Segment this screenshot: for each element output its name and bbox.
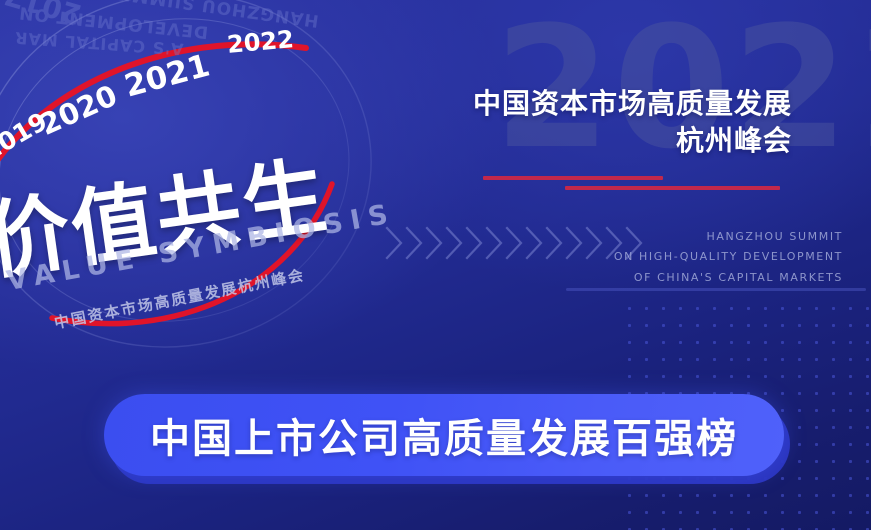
emblem-ghost-line-3: A'S CAPITAL MAR bbox=[14, 28, 185, 59]
emblem-ghost-text: 2017 HANGZHOU SUMMIT ON OUR DEVELOPMENT … bbox=[0, 0, 404, 370]
english-line-2: ON HIGH-QUALITY DEVELOPMENT bbox=[523, 247, 843, 267]
english-line-3: OF CHINA'S CAPITAL MARKETS bbox=[523, 268, 843, 288]
summit-emblem: 2017 HANGZHOU SUMMIT ON OUR DEVELOPMENT … bbox=[0, 0, 404, 370]
accent-rule bbox=[566, 288, 866, 291]
headline-line-2: 杭州峰会 bbox=[452, 123, 792, 160]
emblem-arc-lines bbox=[0, 0, 404, 370]
emblem-title-cn: 价值共生 bbox=[0, 129, 335, 297]
headline-line-1: 中国资本市场高质量发展 bbox=[473, 87, 792, 120]
emblem-year-2022: 2022 bbox=[226, 25, 295, 59]
page-title: 中国资本市场高质量发展 杭州峰会 bbox=[452, 86, 792, 160]
cta-button-wrap[interactable]: 中国上市公司高质量发展百强榜 bbox=[100, 392, 790, 492]
emblem-ghost-line-1: HANGZHOU SUMMIT ON OUR bbox=[22, 0, 320, 31]
cta-button-label: 中国上市公司高质量发展百强榜 bbox=[150, 406, 738, 464]
emblem-title-en: VALUE SYMBIOSIS bbox=[4, 198, 398, 297]
cta-button[interactable]: 中国上市公司高质量发展百强榜 bbox=[104, 394, 784, 476]
emblem-year-2019: 2019 bbox=[0, 107, 52, 167]
emblem-subtitle-cn: 中国资本市场高质量发展杭州峰会 bbox=[52, 264, 306, 333]
event-banner: 2021 2017 HANGZHOU SUMMIT ON OUR DEVELOP… bbox=[0, 0, 871, 530]
red-divider-bottom bbox=[565, 186, 780, 190]
emblem-ghost-year: 2017 bbox=[1, 0, 85, 31]
english-line-1: HANGZHOU SUMMIT bbox=[523, 227, 843, 247]
english-subtitle: HANGZHOU SUMMIT ON HIGH-QUALITY DEVELOPM… bbox=[523, 227, 843, 288]
red-divider-top bbox=[483, 176, 663, 180]
emblem-year-2021: 2021 bbox=[121, 47, 214, 104]
emblem-ghost-line-2: DEVELOPMENT ON bbox=[17, 2, 209, 42]
emblem-year-arc: 2019 2020 2021 2022 bbox=[0, 0, 404, 370]
emblem-year-2020: 2020 bbox=[35, 78, 123, 142]
